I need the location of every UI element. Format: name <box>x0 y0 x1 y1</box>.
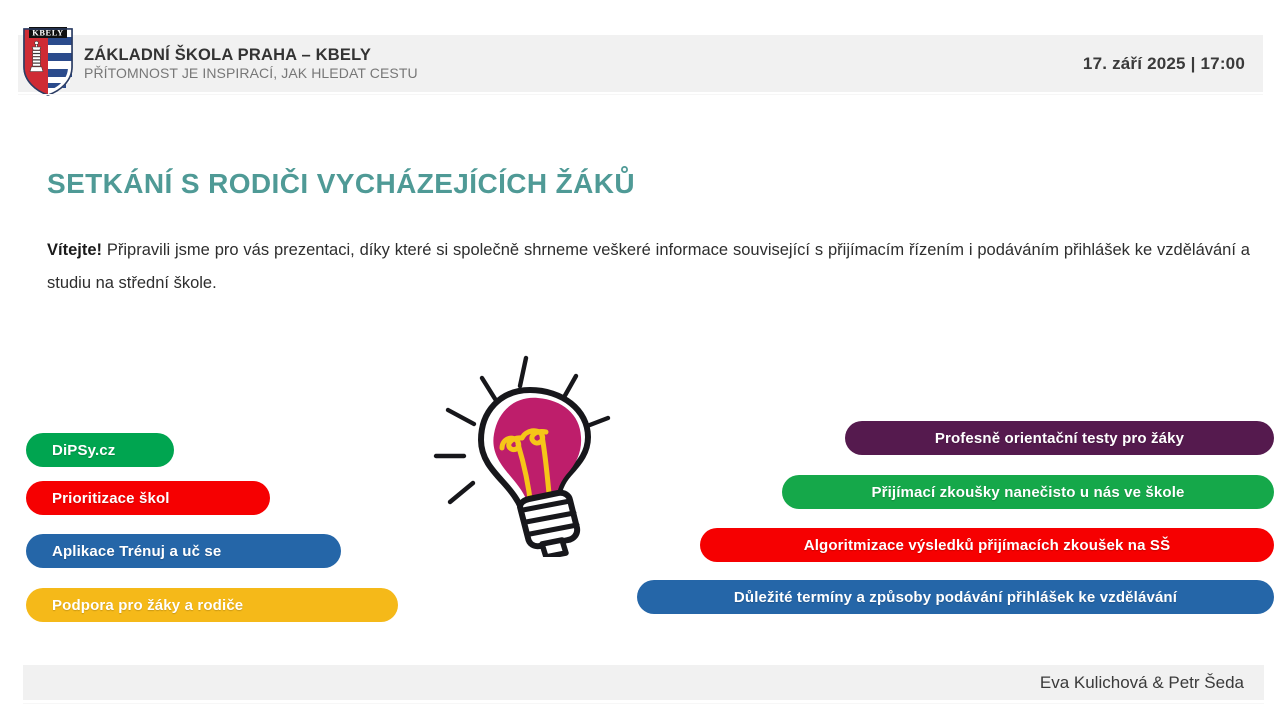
intro-body: Připravili jsme pro vás prezentaci, díky… <box>47 241 1250 292</box>
page-footer: Eva Kulichová & Petr Šeda <box>23 665 1264 700</box>
school-logo: KBELY <box>20 25 78 101</box>
lightbulb-icon <box>430 352 640 557</box>
header-date-time: 17. září 2025 | 17:00 <box>1083 54 1245 74</box>
topic-pill-label: Algoritmizace výsledků přijímacích zkouš… <box>804 537 1171 554</box>
school-motto: PŘÍTOMNOST JE INSPIRACÍ, JAK HLEDAT CEST… <box>84 66 418 82</box>
topic-pill-dulezite-terminy[interactable]: Důležité termíny a způsoby podávání přih… <box>637 580 1274 614</box>
school-name: ZÁKLADNÍ ŠKOLA PRAHA – KBELY <box>84 45 418 63</box>
topic-pill-algoritmizace-vysledku[interactable]: Algoritmizace výsledků přijímacích zkouš… <box>700 528 1274 562</box>
topic-pill-prioritizace-skol[interactable]: Prioritizace škol <box>26 481 270 515</box>
footer-credit: Eva Kulichová & Petr Šeda <box>1040 673 1264 693</box>
topic-pill-label: Podpora pro žáky a rodiče <box>52 597 243 614</box>
bulb-screw-base-icon <box>520 493 577 557</box>
topic-pill-label: Přijímací zkoušky nanečisto u nás ve ško… <box>871 484 1184 501</box>
topic-pill-label: Prioritizace škol <box>52 490 170 507</box>
school-identity: ZÁKLADNÍ ŠKOLA PRAHA – KBELY PŘÍTOMNOST … <box>84 45 418 81</box>
topic-pill-profesne-orientacni-testy[interactable]: Profesně orientační testy pro žáky <box>845 421 1274 455</box>
kbely-coat-of-arms-icon: KBELY <box>20 25 76 97</box>
topic-pill-dipsy[interactable]: DiPSy.cz <box>26 433 174 467</box>
topic-pill-label: Důležité termíny a způsoby podávání přih… <box>734 589 1177 606</box>
intro-lead: Vítejte! <box>47 241 102 259</box>
intro-paragraph: Vítejte! Připravili jsme pro vás prezent… <box>47 234 1250 300</box>
topic-pill-label: Aplikace Trénuj a uč se <box>52 543 221 560</box>
topic-pill-podpora-pro-zaky-a-rodice[interactable]: Podpora pro žáky a rodiče <box>26 588 398 622</box>
topic-pill-label: DiPSy.cz <box>52 442 115 459</box>
svg-text:KBELY: KBELY <box>32 29 64 38</box>
topic-pill-aplikace-trenuj-a-uc-se[interactable]: Aplikace Trénuj a uč se <box>26 534 341 568</box>
topic-pill-prijimaci-zkousky-nanecisto[interactable]: Přijímací zkoušky nanečisto u nás ve ško… <box>782 475 1274 509</box>
topic-pill-label: Profesně orientační testy pro žáky <box>935 430 1184 447</box>
lightbulb-illustration <box>430 352 640 557</box>
page-title: SETKÁNÍ S RODIČI VYCHÁZEJÍCÍCH ŽÁKŮ <box>47 168 635 200</box>
page-header: KBELY ZÁKLADNÍ ŠKOLA PRAHA – KBELY PŘÍTO… <box>18 35 1263 92</box>
